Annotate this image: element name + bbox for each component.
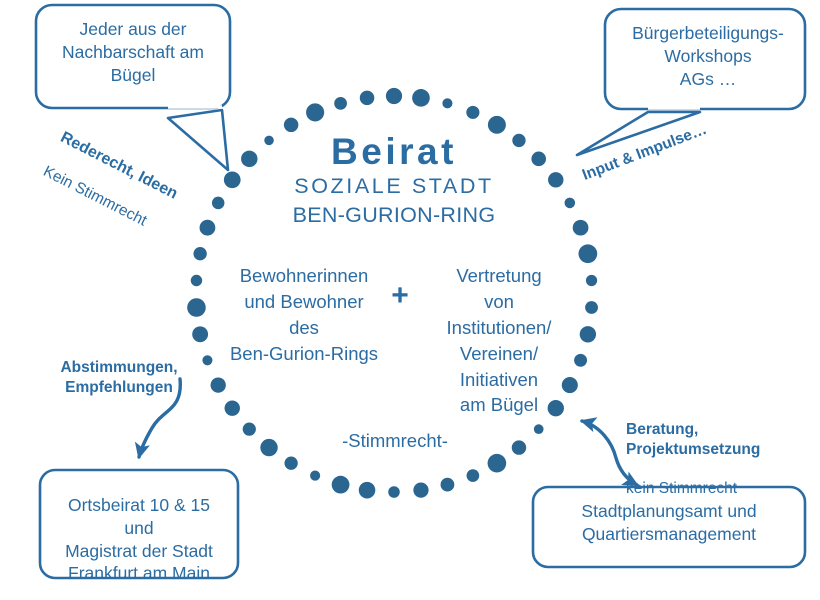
bubble-top-left-text: Jeder aus der Nachbarschaft am Bügel	[40, 18, 226, 86]
ring-dot	[243, 423, 256, 436]
ring-dot	[225, 400, 240, 415]
label-beratung-plain: kein Stimmrecht	[626, 479, 796, 499]
ring-dot	[202, 355, 212, 365]
ring-dot	[260, 439, 277, 456]
members-residents-column: Bewohnerinnen und Bewohner des Ben-Gurio…	[216, 263, 392, 367]
page-title: Beirat	[244, 130, 544, 174]
ring-dot	[548, 172, 563, 187]
ring-dot	[442, 98, 452, 108]
ring-dot	[585, 301, 598, 314]
ring-dot	[284, 457, 297, 470]
ring-dot	[579, 244, 598, 263]
ring-dot	[580, 326, 596, 342]
voting-rights-note: -Stimmrecht-	[300, 430, 490, 452]
ring-dot	[187, 298, 206, 317]
page-subtitle-1: SOZIALE STADT	[244, 174, 544, 199]
ring-dot	[534, 424, 544, 434]
ring-dot	[359, 482, 376, 499]
ring-dot	[467, 469, 480, 482]
ring-dot	[412, 89, 430, 107]
ring-dot	[334, 97, 347, 110]
ring-dot	[573, 220, 589, 236]
diagram-canvas: Jeder aus der Nachbarschaft am Bügel Red…	[0, 0, 820, 600]
ring-dot	[332, 476, 350, 494]
ring-dot	[306, 103, 324, 121]
plus-icon: +	[384, 278, 416, 313]
ring-dot	[565, 198, 576, 209]
members-institutions-column: Vertretung von Institutionen/ Vereinen/ …	[420, 263, 578, 418]
label-beratung-bold: Beratung, Projektumsetzung	[626, 420, 796, 459]
ring-dot	[388, 486, 400, 498]
ring-dot	[192, 326, 208, 342]
page-subtitle-2: BEN-GURION-RING	[244, 203, 544, 228]
ring-dot	[512, 440, 526, 454]
ring-dot	[211, 377, 226, 392]
ring-dot	[441, 478, 455, 492]
ring-dot	[224, 171, 241, 188]
ring-dot	[386, 88, 402, 104]
label-abstimmungen: Abstimmungen, Empfehlungen	[44, 358, 194, 397]
ring-dot	[360, 91, 375, 106]
box-bottom-left-text: Ortsbeirat 10 & 15 und Magistrat der Sta…	[44, 494, 234, 585]
ring-dot	[310, 471, 320, 481]
bubble-tail-top-left	[168, 110, 228, 170]
ring-dot	[466, 106, 479, 119]
ring-dot	[488, 454, 507, 473]
bubble-top-right-text: Bürgerbeteiligungs- Workshops AGs …	[610, 22, 806, 90]
ring-dot	[586, 275, 597, 286]
box-bottom-right-text: Stadtplanungsamt und Quartiersmanagement	[540, 500, 798, 546]
ring-dot	[413, 483, 428, 498]
